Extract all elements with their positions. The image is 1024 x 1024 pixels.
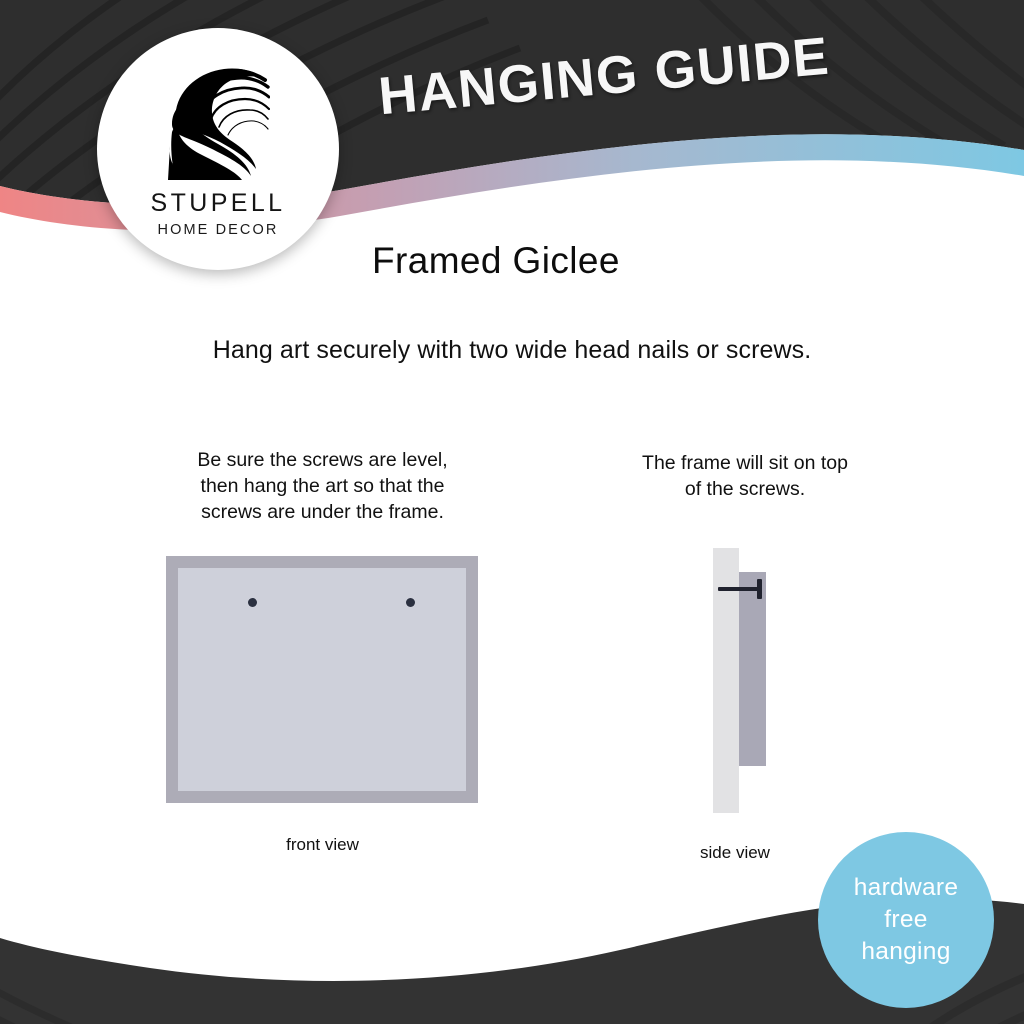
front-view-note-line-1: Be sure the screws are level, [150,447,495,473]
side-view-label: side view [630,843,840,863]
page-title: HANGING GUIDE [376,26,832,128]
stupell-swoosh-logo-icon [166,62,270,180]
badge-line-1: hardware [854,872,959,904]
brand-logo-badge: STUPELL HOME DECOR [97,28,339,270]
front-view-screw-dot-left [248,598,257,607]
side-view-screw-head [757,579,762,599]
product-type-label: Framed Giclee [372,240,620,282]
badge-line-2: free [884,904,927,936]
side-view-screw-shaft [718,587,761,591]
lead-instruction: Hang art securely with two wide head nai… [0,336,1024,365]
side-view-frame [739,572,766,766]
side-view-note-line-1: The frame will sit on top [600,450,890,476]
front-view-label: front view [170,835,475,855]
front-view-mat [178,568,466,791]
hanging-guide-page: STUPELL HOME DECOR HANGING GUIDE Framed … [0,0,1024,1024]
front-view-diagram [166,556,478,803]
front-view-note-line-3: screws are under the frame. [150,499,495,525]
front-view-note-line-2: then hang the art so that the [150,473,495,499]
front-view-screw-dot-right [406,598,415,607]
badge-line-3: hanging [861,936,950,968]
brand-tagline: HOME DECOR [158,222,279,238]
hardware-free-hanging-badge: hardware free hanging [818,832,994,1008]
brand-wordmark: STUPELL [151,189,286,218]
side-view-note-line-2: of the screws. [600,476,890,502]
side-view-note: The frame will sit on top of the screws. [600,450,890,502]
front-view-note: Be sure the screws are level, then hang … [150,447,495,525]
